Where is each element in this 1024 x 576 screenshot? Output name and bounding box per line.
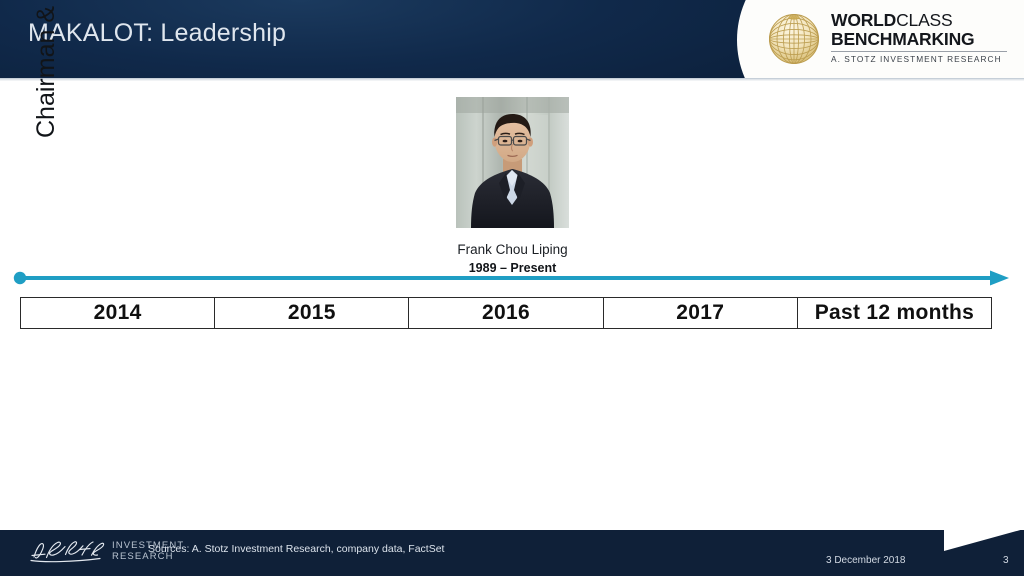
slide-canvas: MAKALOT: Leadership: [0, 0, 1024, 576]
logo-rule-divider: [831, 51, 1007, 52]
timeline-period-cell[interactable]: 2015: [214, 297, 408, 329]
vertical-axis-label: Chairman & ceo: [28, 0, 64, 138]
a-stotz-signature-icon: [28, 538, 108, 564]
footer-page-number: 3: [1003, 555, 1009, 566]
timeline-period-cell[interactable]: 2017: [603, 297, 797, 329]
timeline-arrow: [12, 267, 1012, 289]
timeline-period-row: 2014 2015 2016 2017 Past 12 months: [20, 297, 992, 329]
page-title: MAKALOT: Leadership: [28, 19, 286, 48]
logo-subtitle: A. STOTZ INVESTMENT RESEARCH: [831, 54, 1011, 64]
leader-card: Frank Chou Liping 1989 – Present: [440, 97, 585, 276]
leader-portrait-photo: [456, 97, 569, 228]
timeline-period-cell[interactable]: Past 12 months: [797, 297, 992, 329]
footer-sources-text: Sources: A. Stotz Investment Research, c…: [148, 543, 444, 555]
worldclass-benchmarking-logo: WORLDCLASS BENCHMARKING A. STOTZ INVESTM…: [765, 8, 1010, 72]
logo-line-one: WORLDCLASS: [831, 11, 1011, 30]
logo-wordmark: WORLDCLASS BENCHMARKING A. STOTZ INVESTM…: [831, 11, 1011, 64]
logo-world-text: WORLD: [831, 10, 896, 30]
timeline-period-cell[interactable]: 2016: [408, 297, 602, 329]
footer-date: 3 December 2018: [826, 555, 906, 566]
globe-wireframe-icon: [765, 10, 823, 68]
leader-name: Frank Chou Liping: [440, 242, 585, 258]
timeline-period-cell[interactable]: 2014: [20, 297, 214, 329]
logo-benchmarking-text: BENCHMARKING: [831, 29, 974, 49]
logo-line-two: BENCHMARKING: [831, 30, 1011, 49]
logo-class-text: CLASS: [896, 10, 952, 30]
header-divider: [0, 78, 1024, 81]
footer-corner-notch: [944, 530, 1024, 551]
